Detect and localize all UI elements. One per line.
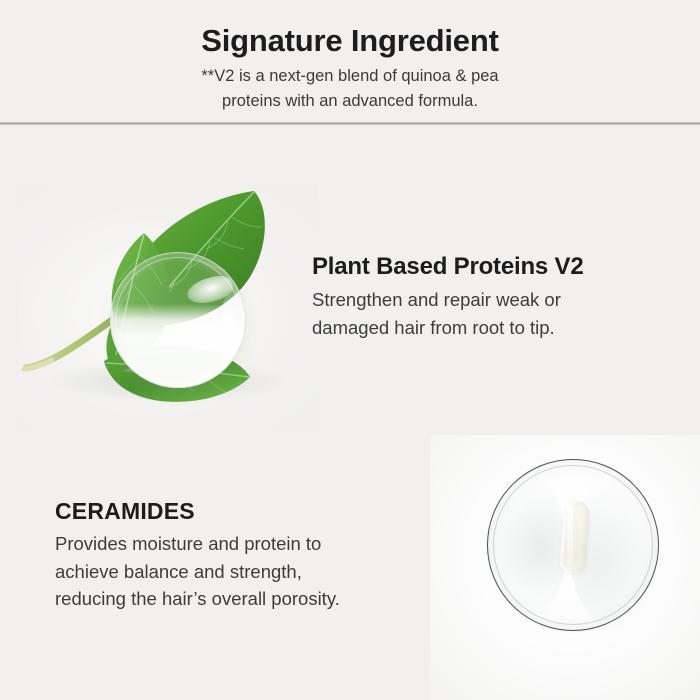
- cream-smear-icon: [560, 500, 591, 574]
- droplet-edge-highlight: [221, 292, 241, 348]
- section-description-ceramides: Provides moisture and protein to achieve…: [55, 530, 445, 613]
- cream-smear-highlight: [567, 505, 573, 565]
- description-line: Strengthen and repair weak or: [312, 286, 672, 314]
- description-line: damaged hair from root to tip.: [312, 314, 672, 342]
- header-subtitle-line-1: **V2 is a next-gen blend of quinoa & pea: [0, 64, 700, 89]
- ingredient-infographic-page: Signature Ingredient **V2 is a next-gen …: [0, 0, 700, 700]
- description-line: Provides moisture and protein to: [55, 530, 445, 558]
- water-droplet-icon: [110, 252, 246, 388]
- section-title-plant-based-proteins: Plant Based Proteins V2: [312, 252, 672, 282]
- header-subtitle-line-2: proteins with an advanced formula.: [0, 89, 700, 114]
- section-plant-based-proteins: Plant Based Proteins V2 Strengthen and r…: [312, 252, 672, 341]
- stem-icon: [26, 317, 116, 368]
- description-line: reducing the hair’s overall porosity.: [55, 585, 445, 613]
- description-line: achieve balance and strength,: [55, 558, 445, 586]
- header-section: Signature Ingredient **V2 is a next-gen …: [0, 0, 700, 122]
- page-title: Signature Ingredient: [0, 22, 700, 60]
- petri-dish-cream-image: [430, 435, 700, 700]
- section-title-ceramides: CERAMIDES: [55, 496, 445, 526]
- leaf-and-water-droplet-image: [18, 185, 318, 430]
- section-description-plant-based-proteins: Strengthen and repair weak or damaged ha…: [312, 286, 672, 341]
- header-subtitle: **V2 is a next-gen blend of quinoa & pea…: [0, 64, 700, 113]
- section-ceramides: CERAMIDES Provides moisture and protein …: [55, 496, 445, 613]
- content-area: Plant Based Proteins V2 Strengthen and r…: [0, 125, 700, 700]
